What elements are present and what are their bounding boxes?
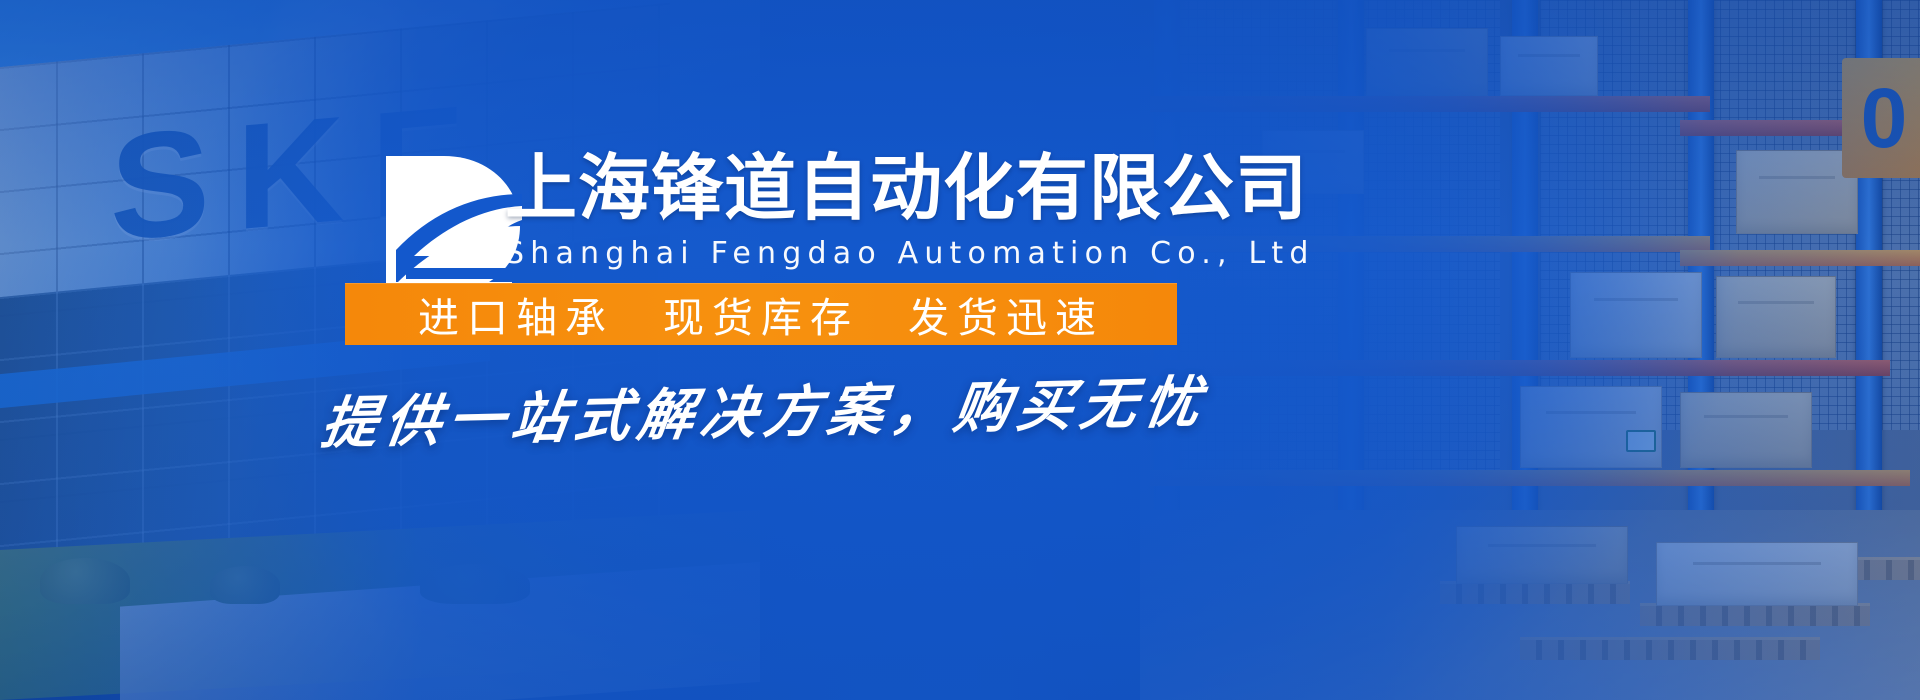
- slogan-line: 提供一站式解决方案，购买无忧: [345, 368, 1185, 448]
- slogan-text: 提供一站式解决方案，购买无忧: [317, 357, 1213, 460]
- keyword-band: 进口轴承 现货库存 发货迅速: [345, 283, 1177, 345]
- keyword-band-text: 进口轴承 现货库存 发货迅速: [418, 284, 1104, 344]
- hero-banner: SKF: [0, 0, 1920, 700]
- title-block: 上海锋道自动化有限公司 Shanghai Fengdao Automation …: [505, 152, 1205, 270]
- banner-content: 上海锋道自动化有限公司 Shanghai Fengdao Automation …: [0, 0, 1920, 700]
- company-name-en: Shanghai Fengdao Automation Co., Ltd: [505, 237, 1205, 270]
- company-logo-icon: [372, 150, 522, 298]
- company-name-cn: 上海锋道自动化有限公司: [505, 152, 1205, 225]
